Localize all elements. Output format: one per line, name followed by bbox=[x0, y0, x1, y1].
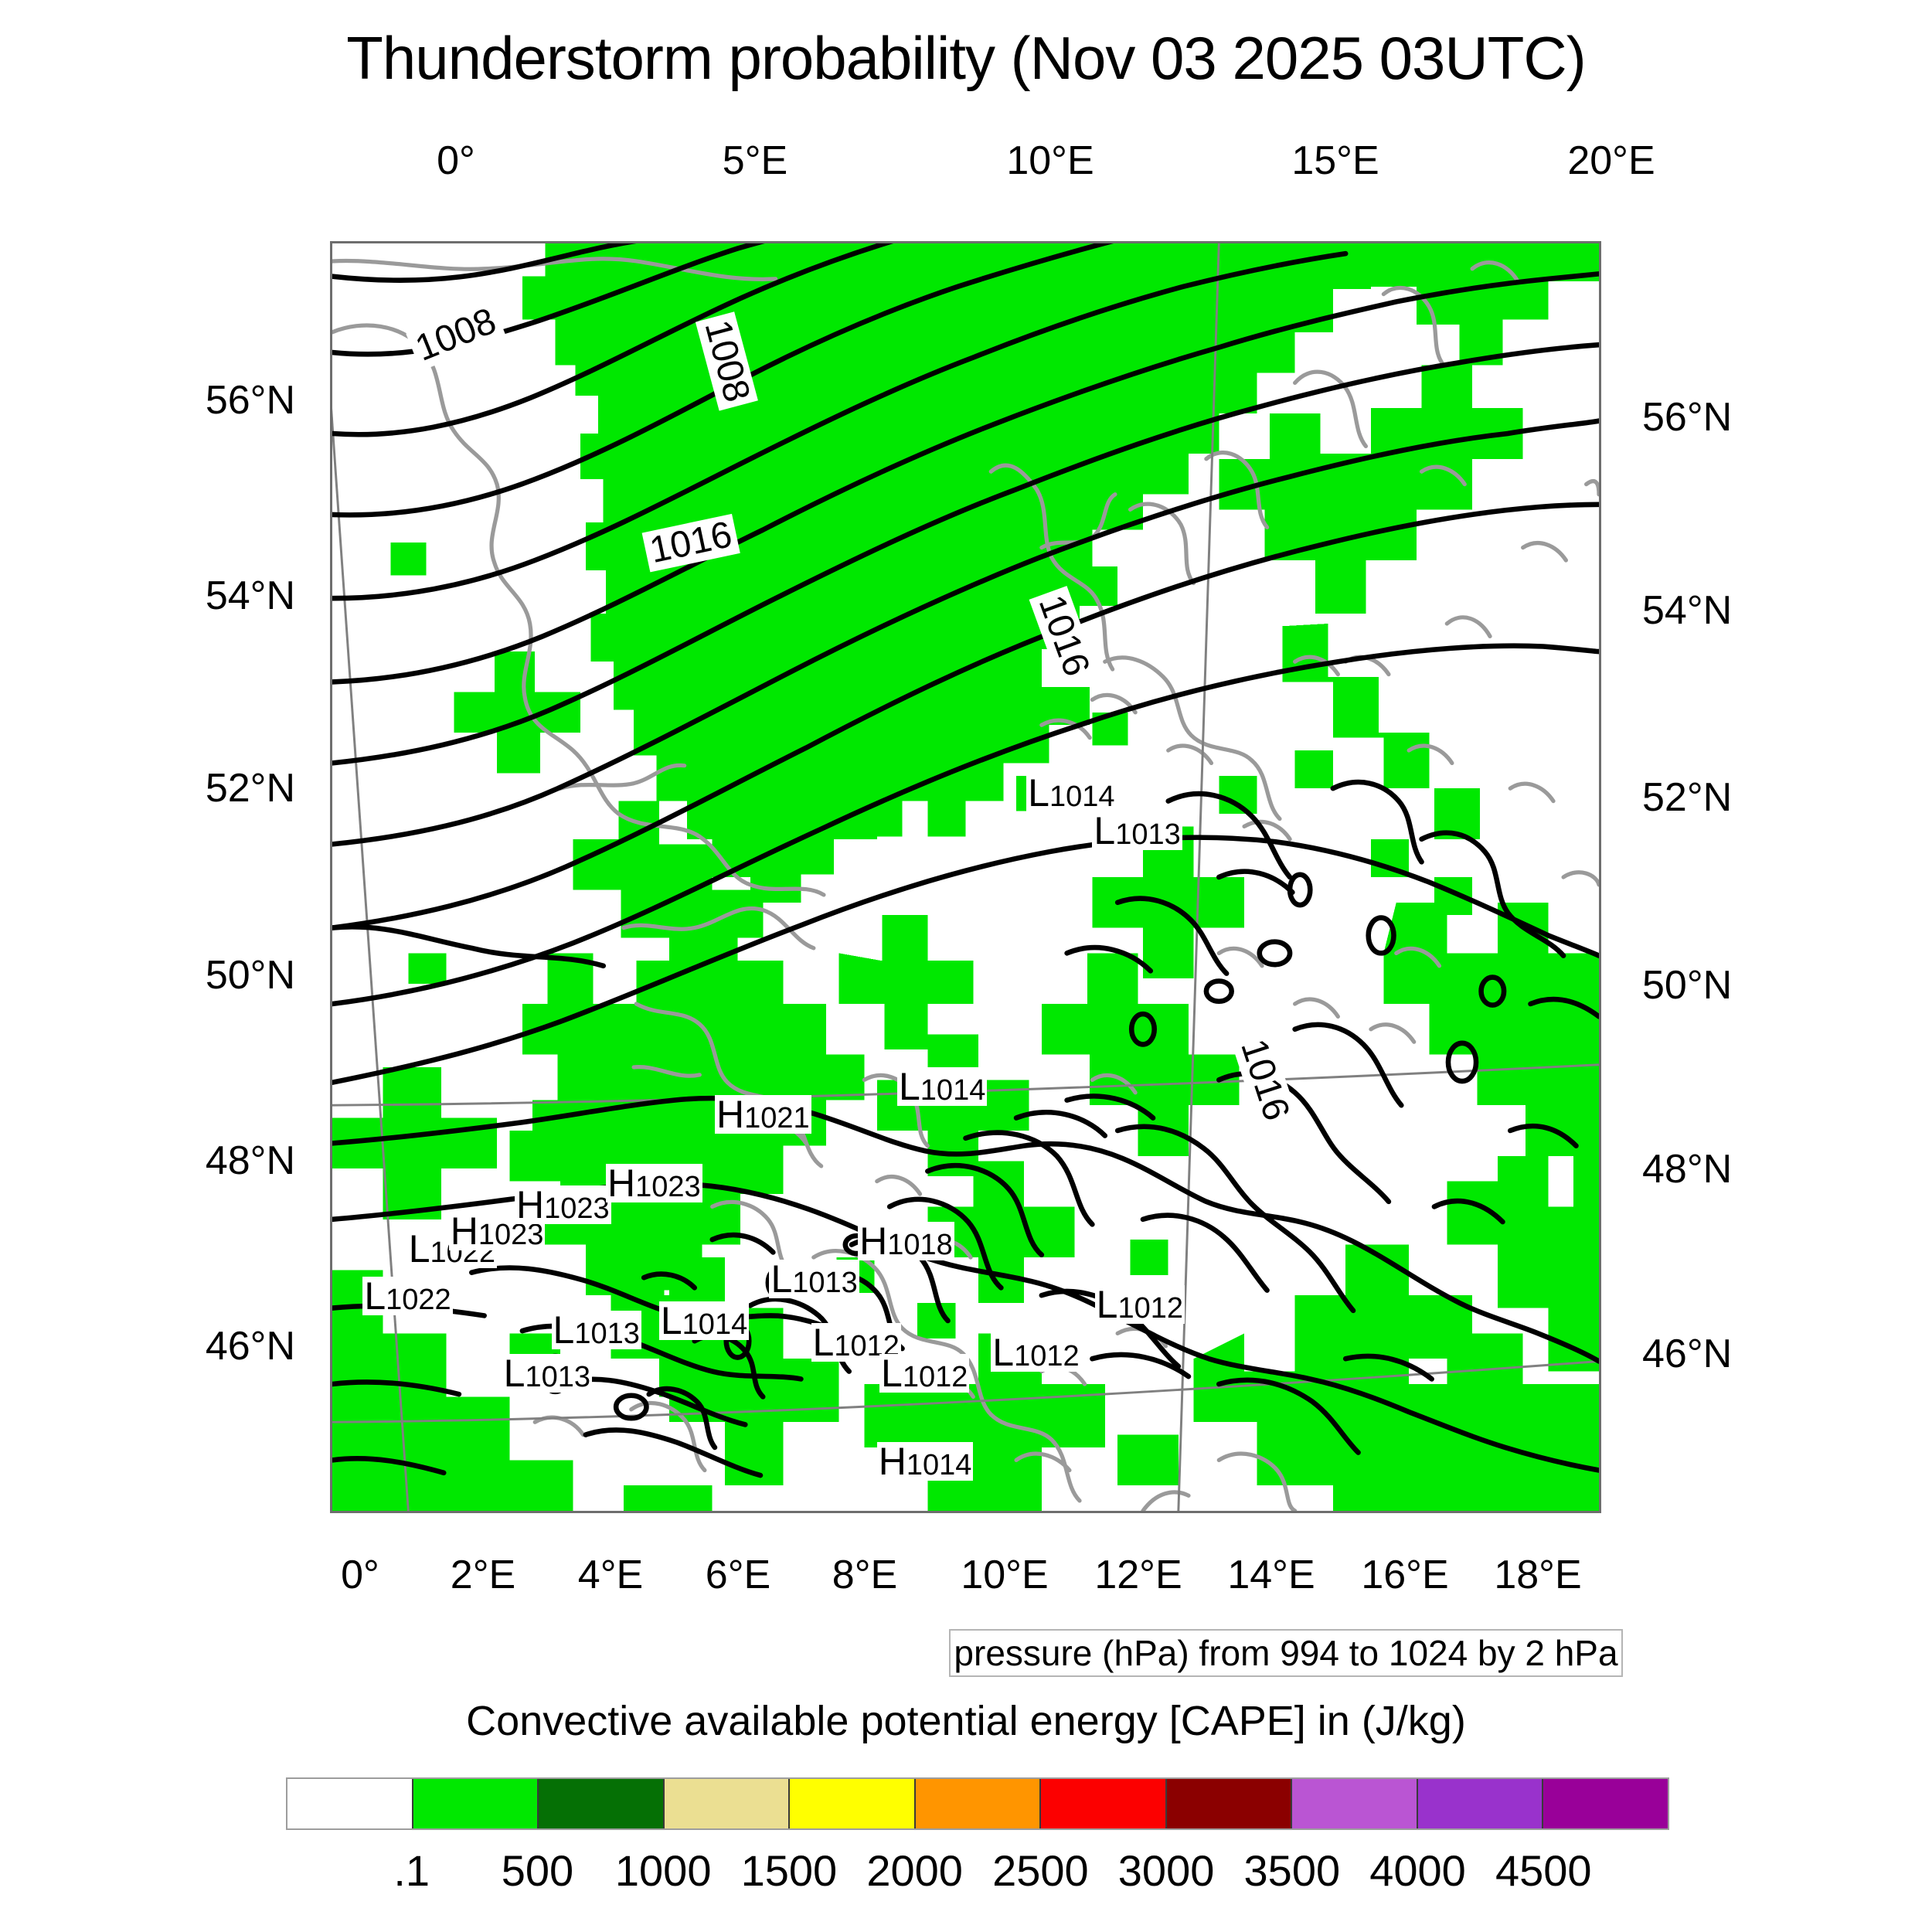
colorbar-tick-0: .1 bbox=[393, 1845, 430, 1896]
colorbar-tick-5: 2500 bbox=[992, 1845, 1089, 1896]
bottom-tick-2: 4°E bbox=[578, 1552, 643, 1598]
right-tick-5: 46°N bbox=[1642, 1331, 1732, 1377]
bottom-tick-4: 8°E bbox=[832, 1552, 897, 1598]
bottom-tick-5: 10°E bbox=[961, 1552, 1048, 1598]
colorbar-cell-10[interactable] bbox=[1542, 1779, 1668, 1828]
top-tick-3: 15°E bbox=[1291, 138, 1379, 184]
bottom-tick-0: 0° bbox=[341, 1552, 379, 1598]
colorbar[interactable] bbox=[286, 1777, 1669, 1830]
right-tick-0: 56°N bbox=[1642, 394, 1732, 440]
bottom-tick-6: 12°E bbox=[1094, 1552, 1182, 1598]
top-tick-2: 10°E bbox=[1006, 138, 1094, 184]
colorbar-cell-0[interactable] bbox=[287, 1779, 412, 1828]
bottom-tick-1: 2°E bbox=[451, 1552, 515, 1598]
pressure-legend-box: pressure (hPa) from 994 to 1024 by 2 hPa bbox=[949, 1629, 1623, 1677]
pressure-center-L-1013-d: L1013 bbox=[1092, 811, 1182, 850]
left-tick-0: 56°N bbox=[206, 377, 295, 423]
chart-root: Thunderstorm probability (Nov 03 2025 03… bbox=[0, 0, 1932, 1932]
pressure-center-L-1014-a: L1014 bbox=[659, 1301, 749, 1340]
colorbar-cell-1[interactable] bbox=[412, 1779, 538, 1828]
left-tick-1: 54°N bbox=[206, 573, 295, 619]
colorbar-tick-3: 1500 bbox=[741, 1845, 838, 1896]
page-title: Thunderstorm probability (Nov 03 2025 03… bbox=[0, 23, 1932, 94]
colorbar-cell-3[interactable] bbox=[663, 1779, 789, 1828]
top-tick-4: 20°E bbox=[1567, 138, 1655, 184]
left-tick-3: 50°N bbox=[206, 952, 295, 998]
right-tick-2: 52°N bbox=[1642, 774, 1732, 821]
pressure-center-L-1012-d: L1012 bbox=[1095, 1285, 1185, 1324]
pressure-legend-text: pressure (hPa) from 994 to 1024 by 2 hPa bbox=[954, 1632, 1617, 1674]
pressure-center-L-1014-b: L1014 bbox=[897, 1067, 987, 1106]
bottom-tick-7: 14°E bbox=[1227, 1552, 1315, 1598]
pressure-center-H-1014: H1014 bbox=[877, 1442, 974, 1481]
colorbar-cell-6[interactable] bbox=[1039, 1779, 1165, 1828]
pressure-center-L-1013-b: L1013 bbox=[502, 1354, 592, 1393]
pressure-center-L-1022-a: L1022 bbox=[362, 1277, 452, 1315]
pressure-center-H-1018: H1018 bbox=[858, 1222, 954, 1260]
colorbar-tick-7: 3500 bbox=[1244, 1845, 1341, 1896]
pressure-center-L-1014-c: L1014 bbox=[1026, 774, 1116, 812]
pressure-center-H-1023-b: H1023 bbox=[515, 1185, 611, 1224]
right-tick-3: 50°N bbox=[1642, 962, 1732, 1009]
top-tick-0: 0° bbox=[437, 138, 475, 184]
bottom-tick-8: 16°E bbox=[1361, 1552, 1448, 1598]
bottom-tick-9: 18°E bbox=[1494, 1552, 1581, 1598]
left-tick-2: 52°N bbox=[206, 765, 295, 811]
colorbar-tick-2: 1000 bbox=[615, 1845, 712, 1896]
pressure-center-L-1012-c: L1012 bbox=[991, 1333, 1080, 1372]
colorbar-tick-9: 4500 bbox=[1495, 1845, 1592, 1896]
top-tick-1: 5°E bbox=[723, 138, 787, 184]
colorbar-tick-1: 500 bbox=[502, 1845, 573, 1896]
pressure-center-L-1012-b: L1012 bbox=[879, 1354, 969, 1393]
colorbar-cell-7[interactable] bbox=[1165, 1779, 1291, 1828]
bottom-tick-3: 6°E bbox=[706, 1552, 770, 1598]
colorbar-tick-8: 4000 bbox=[1369, 1845, 1466, 1896]
colorbar-cell-9[interactable] bbox=[1417, 1779, 1543, 1828]
colorbar-cell-2[interactable] bbox=[537, 1779, 663, 1828]
cape-caption: Convective available potential energy [C… bbox=[0, 1697, 1932, 1745]
pressure-center-L-1013-c: L1013 bbox=[769, 1260, 859, 1298]
map-svg bbox=[332, 243, 1599, 1511]
pressure-center-H-1023-c: H1023 bbox=[606, 1164, 702, 1202]
colorbar-tick-6: 3000 bbox=[1118, 1845, 1215, 1896]
colorbar-cell-4[interactable] bbox=[788, 1779, 914, 1828]
map-plot-area[interactable]: 1008 1008 1016 1016 1016 L1022 L1022 H10… bbox=[330, 241, 1601, 1513]
colorbar-cell-5[interactable] bbox=[914, 1779, 1040, 1828]
left-tick-5: 46°N bbox=[206, 1323, 295, 1369]
colorbar-cell-8[interactable] bbox=[1291, 1779, 1417, 1828]
pressure-center-L-1013-a: L1013 bbox=[552, 1311, 641, 1349]
left-tick-4: 48°N bbox=[206, 1138, 295, 1184]
pressure-center-H-1021: H1021 bbox=[715, 1095, 811, 1134]
right-tick-4: 48°N bbox=[1642, 1146, 1732, 1192]
colorbar-tick-4: 2000 bbox=[866, 1845, 963, 1896]
colorbar-ticks: .150010001500200025003000350040004500 bbox=[286, 1845, 1669, 1900]
right-tick-1: 54°N bbox=[1642, 587, 1732, 634]
